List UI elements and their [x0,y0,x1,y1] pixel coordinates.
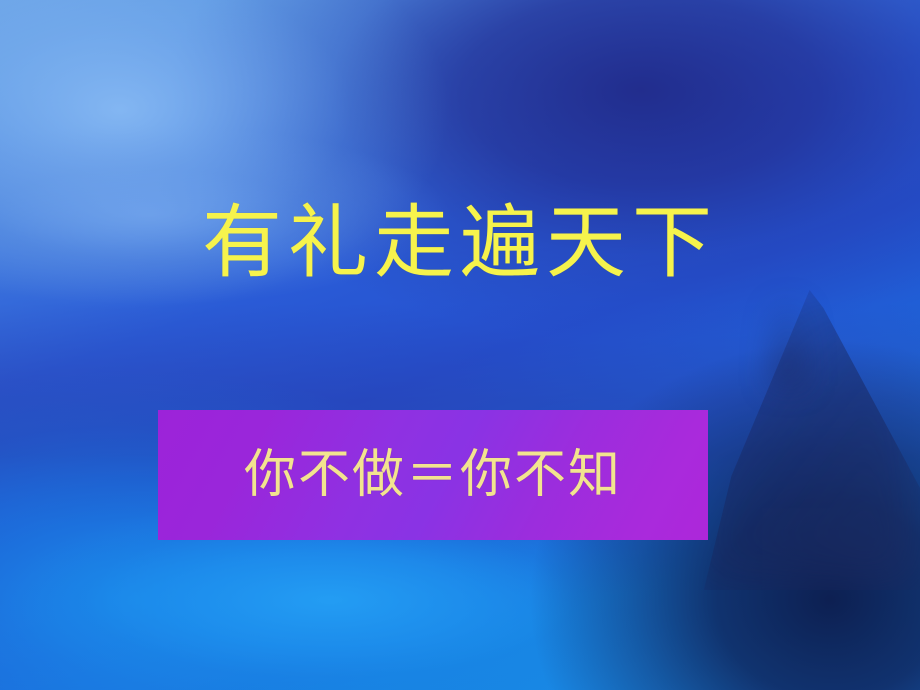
subtitle-text: 你不做＝你不知 [244,449,622,501]
presentation-slide: 有礼走遍天下 你不做＝你不知 [0,0,920,690]
tower-silhouette-icon [690,290,920,590]
background-base-gradient [0,0,920,690]
background-cyan-glow [0,0,920,690]
background-bottom-left-wash [0,0,920,690]
background-light-streak-left [0,0,920,690]
background-dark-bottom-right [0,0,920,690]
tower-spire-icon [770,296,806,386]
background-navy-upper-region [0,0,920,690]
background-indigo-band [0,0,920,690]
background-pale-upper-left [0,0,920,690]
subtitle-banner: 你不做＝你不知 [158,410,708,540]
slide-title: 有礼走遍天下 [0,203,920,283]
